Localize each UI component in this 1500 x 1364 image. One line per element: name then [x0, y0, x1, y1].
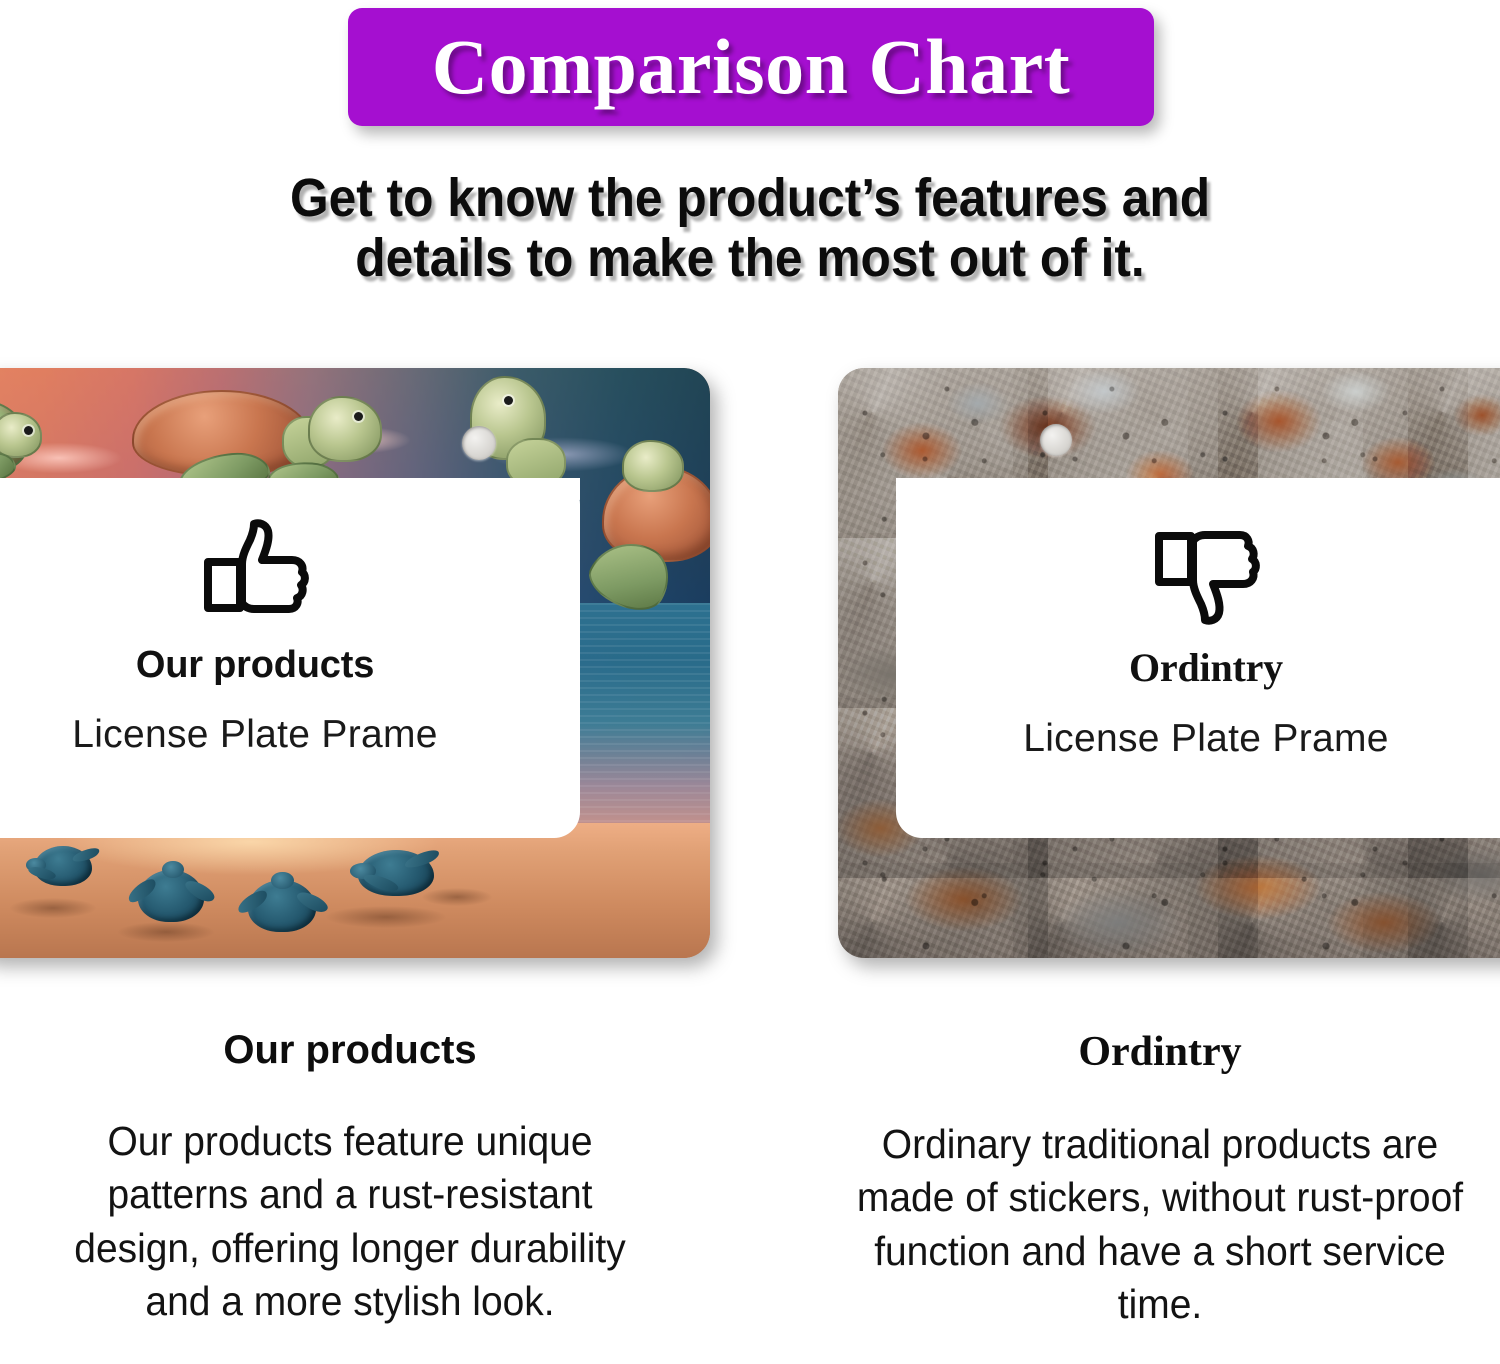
caption-title-right: Ordintry: [820, 1028, 1500, 1076]
product-card-our-products: Our products License Plate Prame: [0, 368, 710, 958]
baby-turtle-2: [138, 870, 204, 922]
beach-sand: [0, 823, 710, 958]
panel-content-ordintry: Ordintry License Plate Prame: [896, 518, 1500, 761]
mounting-hole-right: [1040, 424, 1072, 456]
sea-turtle-4: [586, 438, 710, 628]
turtle-track-1: [10, 898, 96, 918]
comparison-chart-page: Comparison Chart Get to know the product…: [0, 0, 1500, 1364]
baby-turtle-1: [34, 846, 92, 886]
caption-body-right: Ordinary traditional products are made o…: [837, 1118, 1483, 1331]
mounting-hole-left: [462, 426, 496, 460]
product-card-ordintry: Ordintry License Plate Prame: [838, 368, 1500, 958]
caption-body-left: Our products feature unique patterns and…: [46, 1115, 654, 1328]
turtle-track-3: [326, 906, 446, 928]
turtle-track-4: [422, 888, 492, 906]
turtle-track-2: [118, 922, 214, 942]
baby-turtle-4: [358, 850, 434, 896]
baby-turtle-3: [248, 880, 316, 932]
caption-our-products: Our products Our products feature unique…: [30, 1028, 670, 1328]
thumbs-up-icon: [0, 518, 580, 630]
sea-turtle-1: [0, 390, 56, 486]
caption-ordintry: Ordintry Ordinary traditional products a…: [820, 1028, 1500, 1331]
panel-title-left: Our products: [0, 644, 580, 687]
panel-title-right: Ordintry: [896, 644, 1500, 691]
panel-content-our-products: Our products License Plate Prame: [0, 518, 580, 757]
caption-title-left: Our products: [30, 1028, 670, 1073]
panel-subtitle-left: License Plate Prame: [0, 713, 580, 757]
panel-subtitle-right: License Plate Prame: [896, 717, 1500, 761]
thumbs-down-icon: [896, 518, 1500, 630]
